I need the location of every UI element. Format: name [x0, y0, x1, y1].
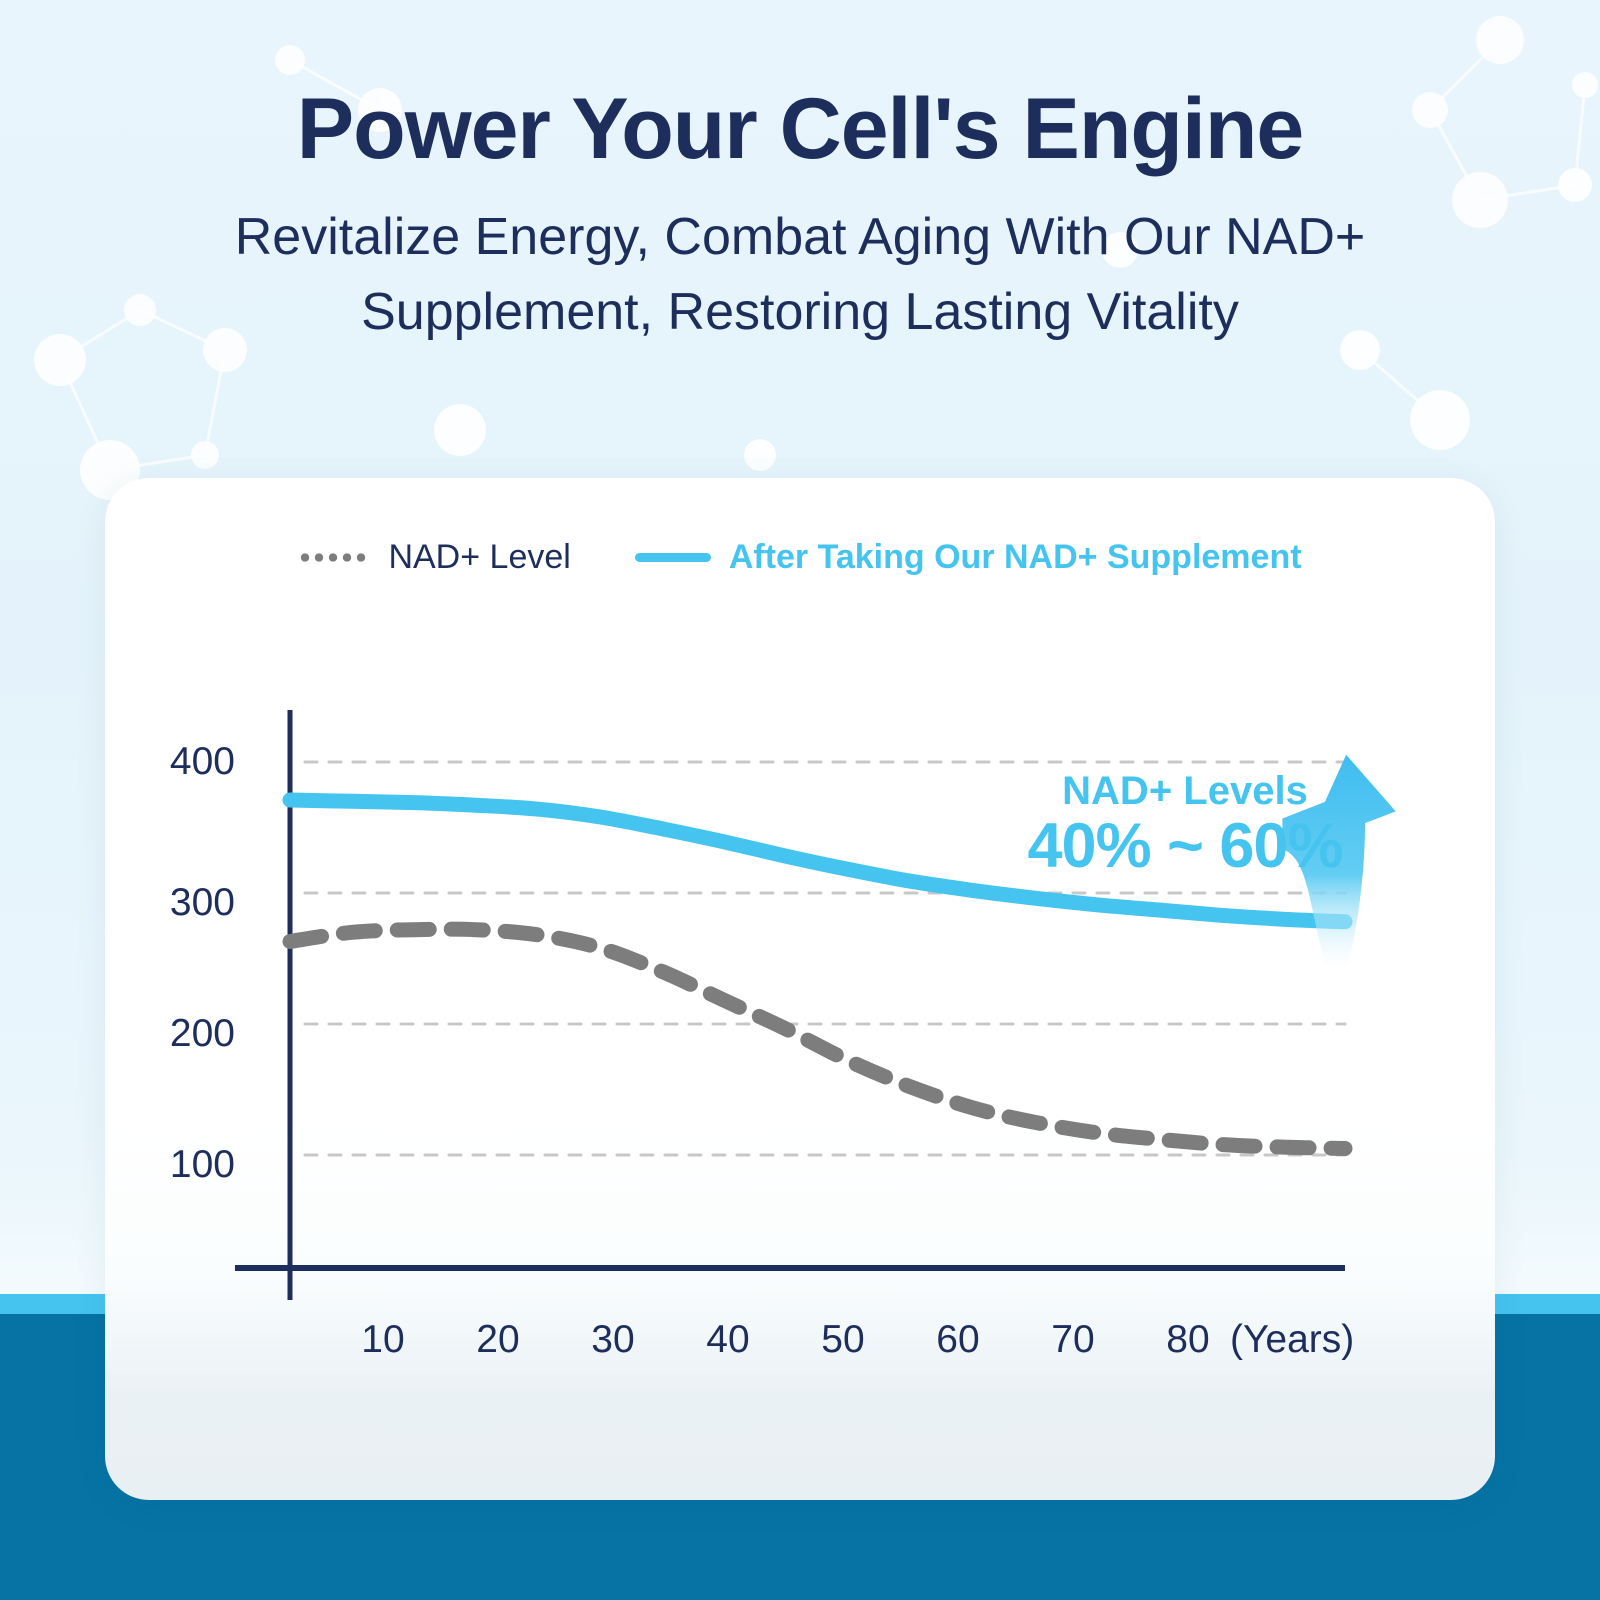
chart-plot: 400 300 200 100 10 20 30 40 50 60 70 80 … [105, 478, 1495, 1500]
xtick-30: 30 [548, 1318, 678, 1362]
xtick-10: 10 [318, 1318, 448, 1362]
page-title: Power Your Cell's Engine [0, 86, 1600, 174]
xtick-40: 40 [663, 1318, 793, 1362]
ytick-300: 300 [115, 881, 235, 925]
chart-gridlines [305, 762, 1345, 1155]
xtick-70: 70 [1008, 1318, 1138, 1362]
ytick-400: 400 [115, 740, 235, 784]
page-subtitle: Revitalize Energy, Combat Aging With Our… [120, 200, 1480, 351]
series-supplement [290, 800, 1345, 922]
series-nad-level [290, 929, 1345, 1148]
xtick-20: 20 [433, 1318, 563, 1362]
xtick-50: 50 [778, 1318, 908, 1362]
xtick-60: 60 [893, 1318, 1023, 1362]
xaxis-unit-label: (Years) [1230, 1318, 1354, 1362]
chart-card: NAD+ Level After Taking Our NAD+ Supplem… [105, 478, 1495, 1500]
ytick-200: 200 [115, 1012, 235, 1056]
header: Power Your Cell's Engine Revitalize Ener… [0, 0, 1600, 351]
up-arrow-icon [1282, 755, 1395, 972]
ytick-100: 100 [115, 1143, 235, 1187]
